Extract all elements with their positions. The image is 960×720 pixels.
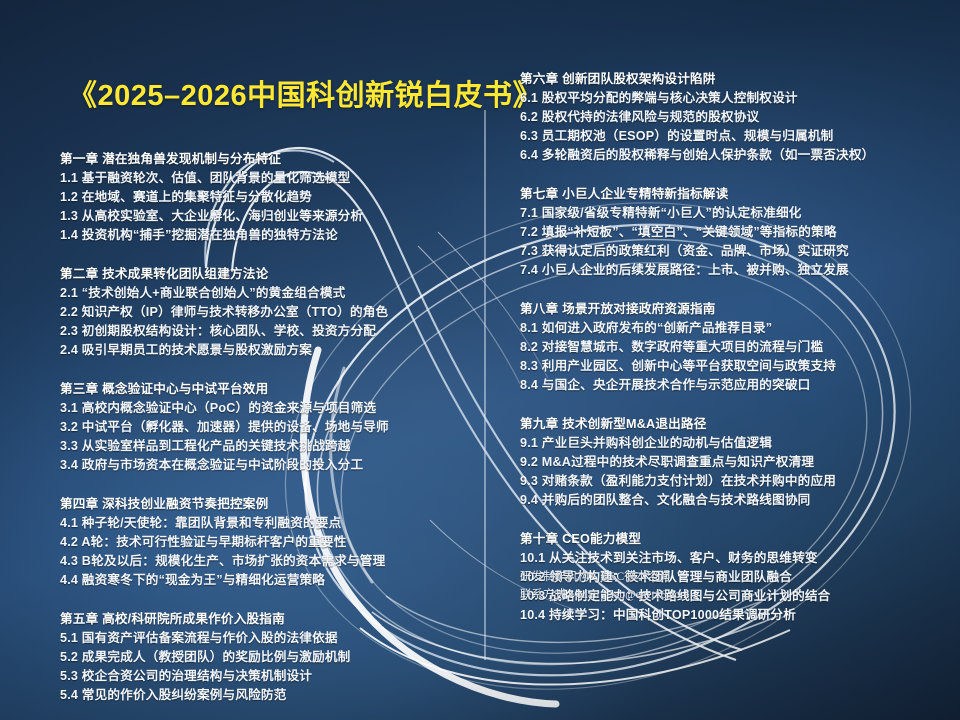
toc-section-item: 1.1 基于融资轮次、估值、团队背景的量化筛选模型: [60, 169, 490, 188]
toc-chapter: 第九章 技术创新型M&A退出路径9.1 产业巨头并购科创企业的动机与估值逻辑9.…: [520, 415, 950, 510]
toc-section-item: 4.3 B轮及以后：规模化生产、市场扩张的资本需求与管理: [60, 552, 490, 571]
toc-section-item: 3.3 从实验室样品到工程化产品的关键技术挑战跨越: [60, 437, 490, 456]
toc-section-item: 8.1 如何进入政府发布的“创新产品推荐目录”: [520, 319, 950, 338]
toc-chapter-title: 第二章 技术成果转化团队组建方法论: [60, 265, 490, 284]
toc-chapter: 第三章 概念验证中心与中试平台效用3.1 高校内概念验证中心（PoC）的资金来源…: [60, 380, 490, 475]
toc-section-item: 6.4 多轮融资后的股权稀释与创始人保护条款（如一票否决权）: [520, 146, 950, 165]
toc-section-item: 7.3 获得认定后的政策红利（资金、品牌、市场）实证研究: [520, 242, 950, 261]
toc-section-item: 1.3 从高校实验室、大企业孵化、海归创业等来源分析: [60, 207, 490, 226]
toc-section-item: 1.4 投资机构“捕手”挖掘潜在独角兽的独特方法论: [60, 226, 490, 245]
toc-section-item: 9.2 M&A过程中的技术尽职调查重点与知识产权清理: [520, 453, 950, 472]
toc-section-item: 4.2 A轮：技术可行性验证与早期标杆客户的重要性: [60, 533, 490, 552]
toc-section-item: 10.4 持续学习：中国科创TOP1000结果调研分析: [520, 606, 950, 625]
toc-column-left: 第一章 潜在独角兽发现机制与分布特征1.1 基于融资轮次、估值、团队背景的量化筛…: [60, 150, 490, 705]
toc-section-item: 5.2 成果完成人（教授团队）的奖励比例与激励机制: [60, 648, 490, 667]
toc-section-item: 6.2 股权代持的法律风险与规范的股权协议: [520, 108, 950, 127]
toc-section-item: 9.3 对赌条款（盈利能力支付计划）在技术并购中的应用: [520, 472, 950, 491]
toc-chapter: 第四章 深科技创业融资节奏把控案例4.1 种子轮/天使轮：靠团队背景和专利融资的…: [60, 495, 490, 590]
toc-chapter-title: 第五章 高校/科研院所成果作价入股指南: [60, 610, 490, 629]
toc-section-item: 6.1 股权平均分配的弊端与核心决策人控制权设计: [520, 89, 950, 108]
toc-section-item: 3.2 中试平台（孵化器、加速器）提供的设备、场地与导师: [60, 418, 490, 437]
toc-chapter: 第五章 高校/科研院所成果作价入股指南5.1 国有资产评估备案流程与作价入股的法…: [60, 610, 490, 705]
toc-section-item: 8.2 对接智慧城市、数字政府等重大项目的流程与门槛: [520, 338, 950, 357]
page-title: 《2025–2026中国科创新锐白皮书》: [68, 72, 542, 114]
toc-section-item: 10.1 从关注技术到关注市场、客户、财务的思维转变: [520, 549, 950, 568]
toc-section-item: 9.4 并购后的团队整合、文化融合与技术路线图协同: [520, 491, 950, 510]
toc-section-item: 2.2 知识产权（IP）律师与技术转移办公室（TTO）的角色: [60, 303, 490, 322]
footer-producer: 研发制作机构：DBC德本咨询: [520, 568, 689, 586]
toc-section-item: 8.3 利用产业园区、创新中心等平台获取空间与政策支持: [520, 357, 950, 376]
toc-chapter: 第八章 场景开放对接政府资源指南8.1 如何进入政府发布的“创新产品推荐目录”8…: [520, 300, 950, 395]
footer-contact: 联系方式 e-Mail：lab@enet16.com: [520, 586, 689, 604]
toc-chapter: 第一章 潜在独角兽发现机制与分布特征1.1 基于融资轮次、估值、团队背景的量化筛…: [60, 150, 490, 245]
toc-section-item: 2.4 吸引早期员工的技术愿景与股权激励方案: [60, 341, 490, 360]
toc-section-item: 2.1 “技术创始人+商业联合创始人”的黄金组合模式: [60, 284, 490, 303]
toc-section-item: 6.3 员工期权池（ESOP）的设置时点、规模与归属机制: [520, 127, 950, 146]
footer-credits: 研发制作机构：DBC德本咨询 联系方式 e-Mail：lab@enet16.co…: [520, 568, 689, 604]
toc-section-item: 5.3 校企合资公司的治理结构与决策机制设计: [60, 667, 490, 686]
toc-section-item: 7.2 填报“补短板”、“填空白”、“关键领域”等指标的策略: [520, 223, 950, 242]
toc-chapter-title: 第三章 概念验证中心与中试平台效用: [60, 380, 490, 399]
toc-section-item: 7.4 小巨人企业的后续发展路径：上市、被并购、独立发展: [520, 261, 950, 280]
toc-section-item: 4.4 融资寒冬下的“现金为王”与精细化运营策略: [60, 571, 490, 590]
toc-section-item: 8.4 与国企、央企开展技术合作与示范应用的突破口: [520, 376, 950, 395]
toc-chapter: 第二章 技术成果转化团队组建方法论2.1 “技术创始人+商业联合创始人”的黄金组…: [60, 265, 490, 360]
toc-section-item: 3.1 高校内概念验证中心（PoC）的资金来源与项目筛选: [60, 399, 490, 418]
slide-root: 《2025–2026中国科创新锐白皮书》 第一章 潜在独角兽发现机制与分布特征1…: [0, 0, 960, 720]
toc-chapter-title: 第八章 场景开放对接政府资源指南: [520, 300, 950, 319]
toc-section-item: 7.1 国家级/省级专精特新“小巨人”的认定标准细化: [520, 204, 950, 223]
toc-chapter-title: 第六章 创新团队股权架构设计陷阱: [520, 70, 950, 89]
toc-chapter-title: 第七章 小巨人企业专精特新指标解读: [520, 185, 950, 204]
toc-section-item: 2.3 初创期股权结构设计：核心团队、学校、投资方分配: [60, 322, 490, 341]
toc-section-item: 5.1 国有资产评估备案流程与作价入股的法律依据: [60, 629, 490, 648]
toc-chapter-title: 第四章 深科技创业融资节奏把控案例: [60, 495, 490, 514]
toc-section-item: 1.2 在地域、赛道上的集聚特征与分散化趋势: [60, 188, 490, 207]
toc-section-item: 3.4 政府与市场资本在概念验证与中试阶段的投入分工: [60, 456, 490, 475]
toc-section-item: 4.1 种子轮/天使轮：靠团队背景和专利融资的要点: [60, 514, 490, 533]
toc-column-right: 第六章 创新团队股权架构设计陷阱6.1 股权平均分配的弊端与核心决策人控制权设计…: [520, 70, 950, 625]
toc-section-item: 9.1 产业巨头并购科创企业的动机与估值逻辑: [520, 434, 950, 453]
toc-chapter-title: 第九章 技术创新型M&A退出路径: [520, 415, 950, 434]
toc-section-item: 5.4 常见的作价入股纠纷案例与风险防范: [60, 686, 490, 705]
toc-chapter-title: 第一章 潜在独角兽发现机制与分布特征: [60, 150, 490, 169]
toc-chapter-title: 第十章 CEO能力模型: [520, 530, 950, 549]
toc-chapter: 第六章 创新团队股权架构设计陷阱6.1 股权平均分配的弊端与核心决策人控制权设计…: [520, 70, 950, 165]
toc-chapter: 第七章 小巨人企业专精特新指标解读7.1 国家级/省级专精特新“小巨人”的认定标…: [520, 185, 950, 280]
